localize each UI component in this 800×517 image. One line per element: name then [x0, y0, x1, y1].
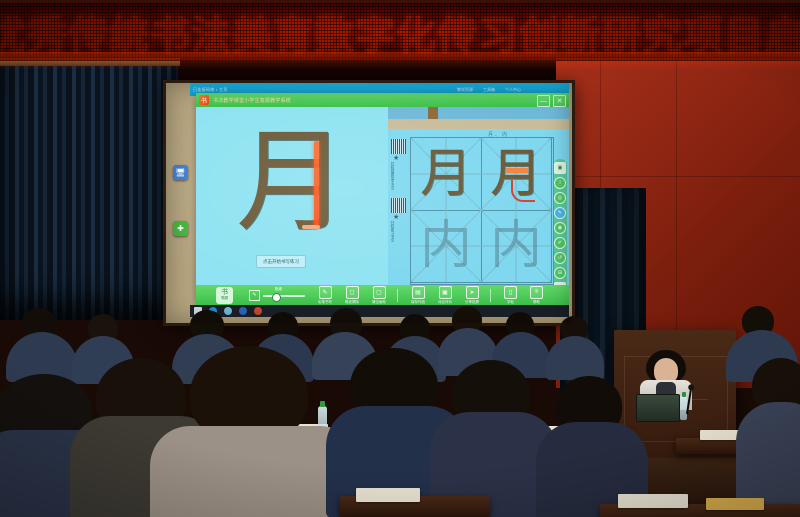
audience-body — [736, 402, 800, 512]
audience-body — [546, 336, 604, 380]
led-banner-text: 优秀传统书法美育数字化传习创新研究项目启动暨 — [0, 4, 800, 60]
desk-booklet — [706, 498, 764, 510]
conference-room: 🖥 ✚ 已连接网络 • 主页 教学资源 工具箱 个人中心 — [0, 58, 800, 517]
desk-paper — [356, 488, 420, 502]
presentation-photo-scene: 优秀传统书法美育数字化传习创新研究项目启动暨 🖥 ✚ 已连 — [0, 0, 800, 517]
desk-paper — [618, 494, 688, 508]
audience — [0, 58, 800, 517]
led-banner: 优秀传统书法美育数字化传习创新研究项目启动暨 — [0, 0, 800, 64]
